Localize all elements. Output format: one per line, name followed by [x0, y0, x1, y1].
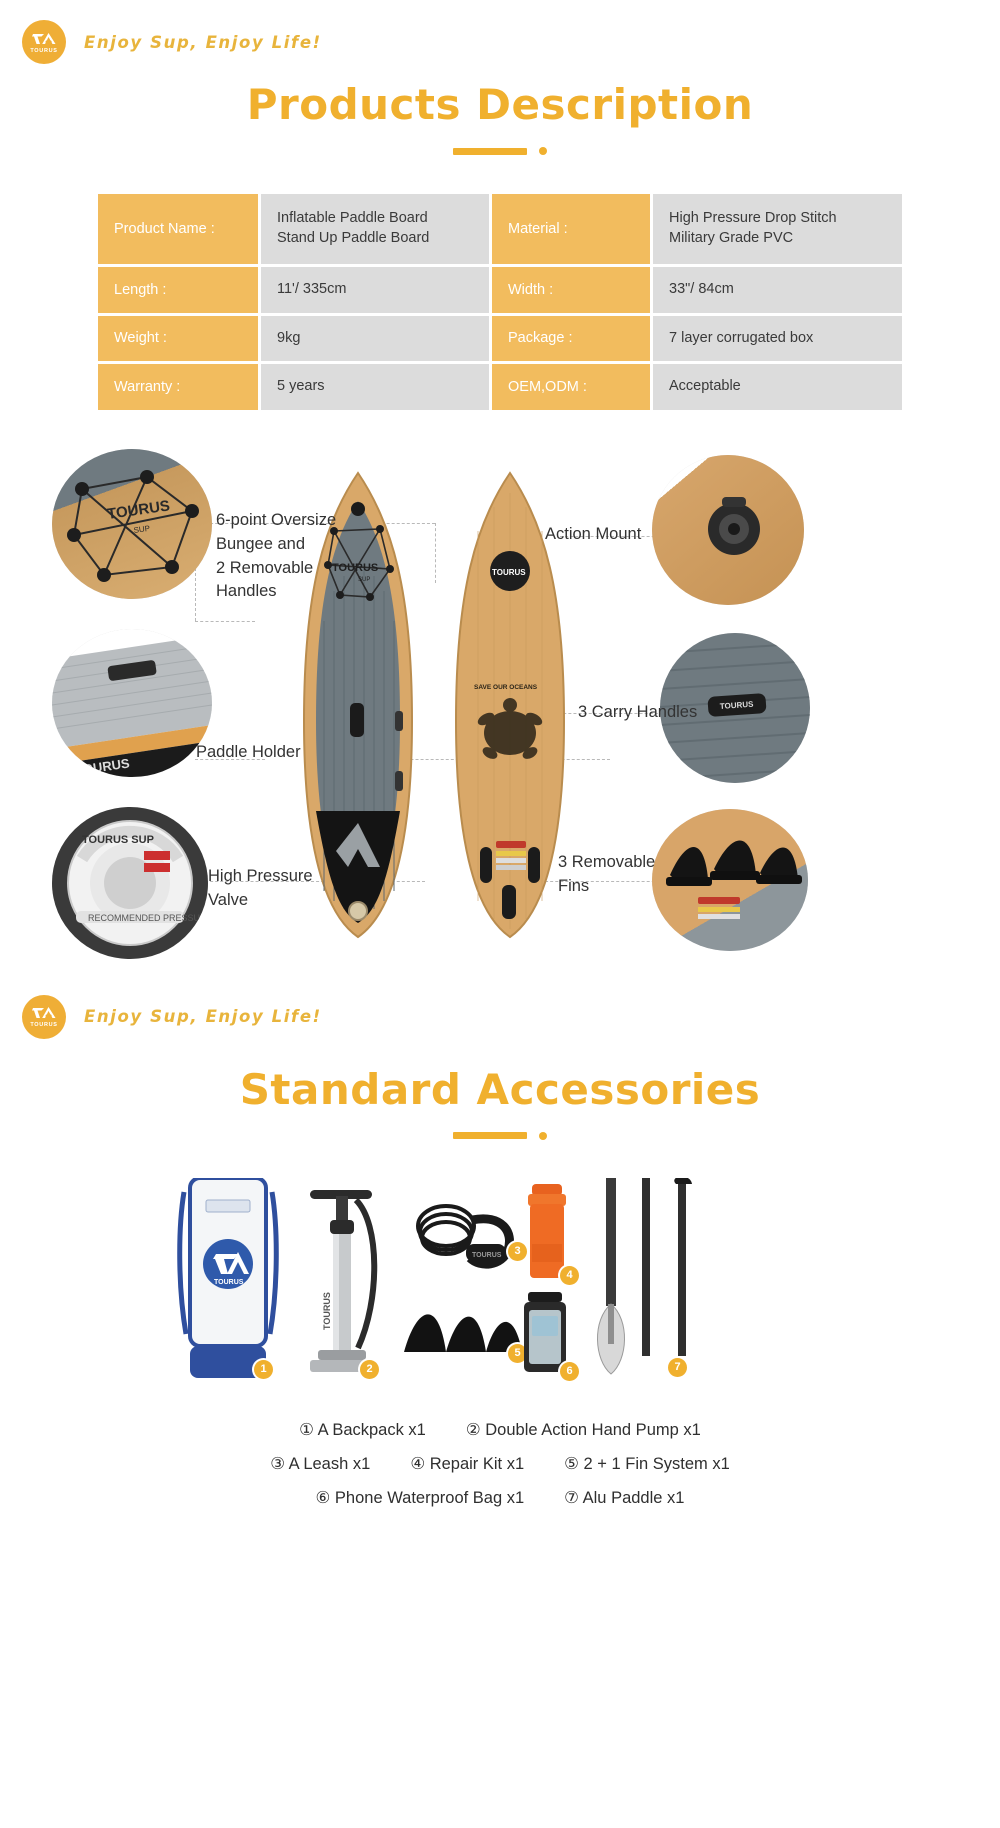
accessory-badge: 6 — [560, 1362, 579, 1381]
svg-text:SUP: SUP — [358, 577, 370, 583]
svg-text:TOURUS: TOURUS — [106, 497, 171, 523]
accessory-caption: ⑤ 2 + 1 Fin System x1 — [564, 1454, 730, 1474]
logo-wordmark: TOURUS — [30, 48, 57, 54]
svg-text:RECOMMENDED PRESSURE: RECOMMENDED PRESSURE — [88, 913, 208, 923]
detail-photo-valve: TOURUS SUP RECOMMENDED PRESSURE — [52, 807, 208, 959]
accessory-backpack: TOURUS 1 — [176, 1178, 280, 1383]
spec-value: High Pressure Drop Stitch Military Grade… — [653, 194, 902, 264]
spec-table-body: Product Name : Inflatable Paddle Board S… — [98, 194, 902, 410]
divider-dot — [539, 147, 547, 155]
spec-value: 7 layer corrugated box — [653, 316, 902, 362]
title-divider — [0, 1132, 1000, 1140]
tourus-logo-icon: TOURUS — [22, 20, 66, 64]
spec-value: Acceptable — [653, 364, 902, 410]
accessory-badge: 1 — [254, 1360, 273, 1379]
accessory-phone-bag: 6 — [518, 1292, 574, 1383]
divider-bar — [453, 1132, 527, 1139]
accessories-image-row: TOURUS 1 TOURUS 2 — [0, 1174, 1000, 1404]
tourus-logo-icon: TOURUS — [22, 995, 66, 1039]
divider-dot — [539, 1132, 547, 1140]
title-divider — [0, 147, 1000, 155]
accessory-caption: ⑦ Alu Paddle x1 — [564, 1488, 684, 1508]
svg-text:TOURUS SUP: TOURUS SUP — [82, 834, 154, 846]
accessories-title: Standard Accessories — [0, 1065, 1000, 1114]
spec-key: Package : — [492, 316, 650, 362]
svg-text:TOURUS: TOURUS — [214, 1279, 244, 1286]
detail-photo-bungee: TOURUS SUP — [52, 449, 212, 599]
svg-text:SUP: SUP — [133, 523, 151, 534]
spec-key: Weight : — [98, 316, 258, 362]
caption-line: ⑥ Phone Waterproof Bag x1 ⑦ Alu Paddle x… — [0, 1488, 1000, 1508]
svg-text:TOURUS: TOURUS — [472, 1252, 502, 1259]
spec-value: 5 years — [261, 364, 489, 410]
table-row: Warranty : 5 years OEM,ODM : Acceptable — [98, 364, 902, 410]
accessory-caption: ① A Backpack x1 — [299, 1420, 426, 1440]
products-description-heading: Products Description — [0, 80, 1000, 155]
svg-text:TOURUS: TOURUS — [322, 1292, 332, 1330]
divider-bar — [453, 148, 527, 155]
feature-diagram: TOURUS SUP TOURUS TOURUS SUP — [0, 441, 1000, 981]
accessory-caption: ④ Repair Kit x1 — [410, 1454, 524, 1474]
spec-key: OEM,ODM : — [492, 364, 650, 410]
spec-value: Inflatable Paddle Board Stand Up Paddle … — [261, 194, 489, 264]
leader-line — [435, 523, 436, 583]
table-row: Product Name : Inflatable Paddle Board S… — [98, 194, 902, 264]
caption-line: ① A Backpack x1 ② Double Action Hand Pum… — [0, 1420, 1000, 1440]
svg-text:SAVE OUR OCEANS: SAVE OUR OCEANS — [474, 684, 538, 691]
accessories-caption-list: ① A Backpack x1 ② Double Action Hand Pum… — [0, 1420, 1000, 1508]
callout-bungee: 6-point Oversize Bungee and 2 Removable … — [216, 509, 346, 605]
logo-wordmark: TOURUS — [30, 1022, 57, 1028]
brand-tagline: Enjoy Sup, Enjoy Life! — [84, 33, 322, 52]
caption-line: ③ A Leash x1 ④ Repair Kit x1 ⑤ 2 + 1 Fin… — [0, 1454, 1000, 1474]
table-row: Weight : 9kg Package : 7 layer corrugate… — [98, 316, 902, 362]
accessory-caption: ③ A Leash x1 — [270, 1454, 370, 1474]
accessory-caption: ② Double Action Hand Pump x1 — [466, 1420, 701, 1440]
brand-header: TOURUS Enjoy Sup, Enjoy Life! — [0, 0, 1000, 66]
accessory-leash: TOURUS 3 — [410, 1192, 530, 1287]
spec-key: Width : — [492, 267, 650, 313]
page-title: Products Description — [0, 80, 1000, 129]
accessory-badge: 2 — [360, 1360, 379, 1379]
standard-accessories-heading: Standard Accessories — [0, 1065, 1000, 1140]
specification-table: Product Name : Inflatable Paddle Board S… — [95, 191, 905, 413]
accessory-repair-kit: 4 — [520, 1184, 576, 1289]
accessory-hand-pump: TOURUS 2 — [300, 1180, 386, 1383]
brand-header-secondary: TOURUS Enjoy Sup, Enjoy Life! — [0, 981, 1000, 1047]
accessory-caption: ⑥ Phone Waterproof Bag x1 — [316, 1488, 525, 1508]
callout-carry-handles: 3 Carry Handles — [578, 701, 697, 725]
spec-key: Product Name : — [98, 194, 258, 264]
accessory-fin-system: 5 — [400, 1286, 530, 1367]
svg-text:TOURUS: TOURUS — [492, 568, 526, 577]
spec-key: Length : — [98, 267, 258, 313]
callout-high-pressure-valve: High Pressure Valve — [208, 865, 328, 913]
spec-value: 33"/ 84cm — [653, 267, 902, 313]
leader-line — [195, 621, 255, 622]
accessory-badge: 7 — [668, 1358, 687, 1377]
detail-photo-paddle-holder: TOURUS — [52, 629, 212, 777]
spec-value: 11'/ 335cm — [261, 267, 489, 313]
callout-action-mount: Action Mount — [545, 523, 641, 547]
accessories-gallery: TOURUS 1 TOURUS 2 — [0, 1174, 1000, 1508]
spec-key: Material : — [492, 194, 650, 264]
table-row: Length : 11'/ 335cm Width : 33"/ 84cm — [98, 267, 902, 313]
brand-tagline: Enjoy Sup, Enjoy Life! — [84, 1007, 322, 1026]
accessory-alu-paddle: 7 — [594, 1178, 704, 1383]
spec-key: Warranty : — [98, 364, 258, 410]
detail-photo-fins — [652, 809, 808, 951]
accessory-badge: 4 — [560, 1266, 579, 1285]
callout-removable-fins: 3 Removable Fins — [558, 851, 668, 899]
detail-photo-action-mount — [652, 455, 804, 605]
spec-value: 9kg — [261, 316, 489, 362]
callout-paddle-holder: Paddle Holder — [196, 741, 301, 765]
